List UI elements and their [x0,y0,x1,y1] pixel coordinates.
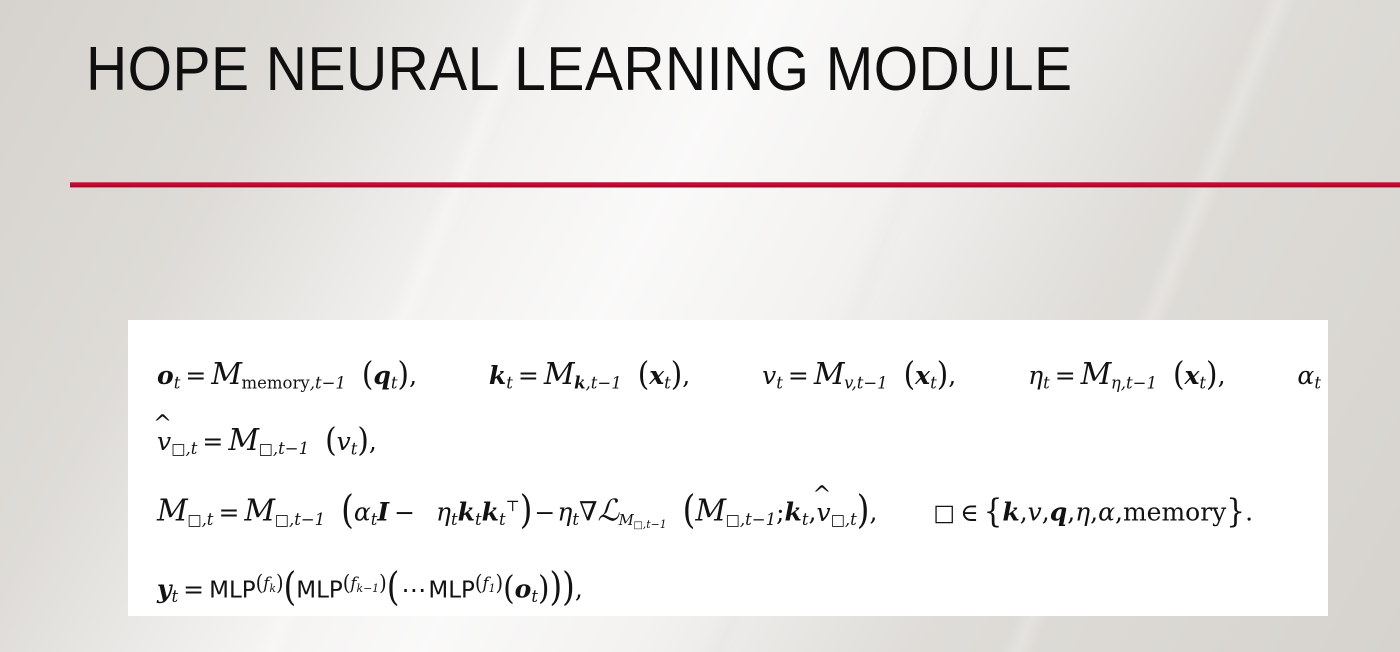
equation-line-2: ^v□,t=M□,t−1(vt), [157,412,1328,479]
equation-line-1: ot=Mmemory,t−1(qt), kt=Mk,t−1(xt), vt=Mv… [157,346,1328,412]
formula-image-card: ot=Mmemory,t−1(qt), kt=Mk,t−1(xt), vt=Mv… [128,320,1328,616]
slide-canvas: HOPE NEURAL LEARNING MODULE ot=Mmemory,t… [0,0,1400,652]
equation-line-4: yt=MLP(fk)(MLP(fk−1)(⋯MLP(f1)(ot))), [157,554,1328,616]
formula-block: ot=Mmemory,t−1(qt), kt=Mk,t−1(xt), vt=Mv… [157,346,1328,616]
equation-line-3: M□,t=M□,t−1(αtI−ηtktkt⊤)−ηt∇ℒM□,t−1(M□,t… [157,478,1328,554]
title-divider-rule [70,182,1400,188]
page-title: HOPE NEURAL LEARNING MODULE [86,35,1073,105]
